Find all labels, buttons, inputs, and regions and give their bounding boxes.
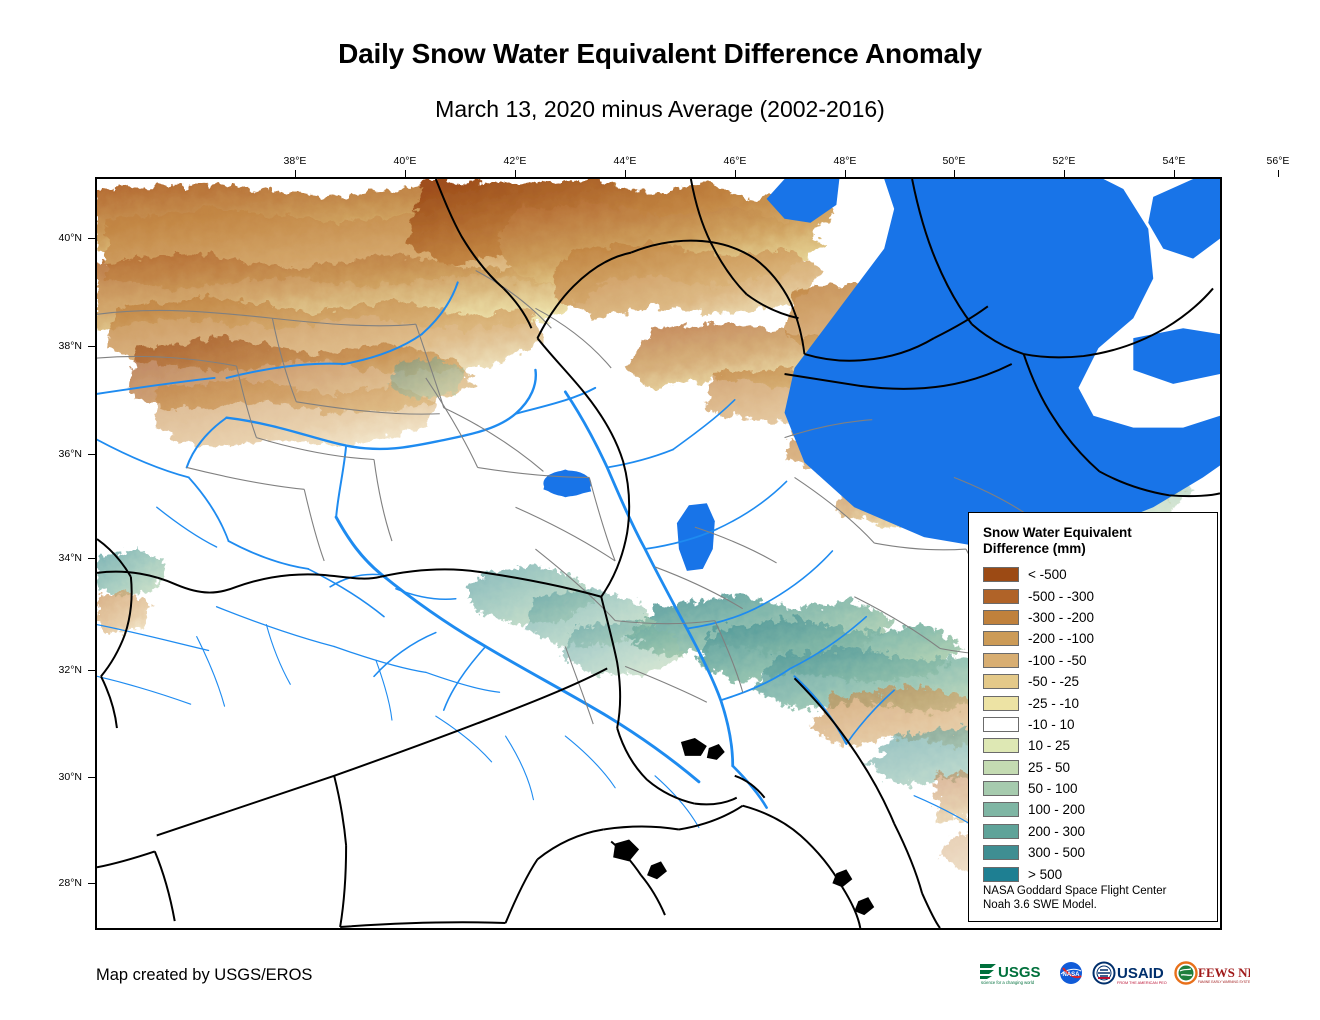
usgs-logo: USGS science for a changing world <box>978 958 1050 988</box>
longitude-tick <box>295 170 296 177</box>
longitude-tick <box>625 170 626 177</box>
legend-swatch <box>983 760 1019 775</box>
latitude-label: 28°N <box>22 877 82 889</box>
legend-row: -300 - -200 <box>983 607 1217 628</box>
map-legend: Snow Water Equivalent Difference (mm) < … <box>968 512 1218 922</box>
latitude-tick <box>88 346 95 347</box>
legend-swatch <box>983 696 1019 711</box>
legend-label: 200 - 300 <box>1028 824 1085 839</box>
legend-swatch <box>983 610 1019 625</box>
latitude-label: 40°N <box>22 232 82 244</box>
legend-label: -300 - -200 <box>1028 610 1094 625</box>
legend-swatch <box>983 674 1019 689</box>
legend-swatch <box>983 653 1019 668</box>
svg-text:USAID: USAID <box>1117 965 1164 982</box>
legend-label: -500 - -300 <box>1028 589 1094 604</box>
legend-title: Snow Water Equivalent Difference (mm) <box>983 525 1183 557</box>
legend-swatch <box>983 845 1019 860</box>
legend-label: 25 - 50 <box>1028 760 1070 775</box>
legend-row: < -500 <box>983 564 1217 585</box>
legend-source: NASA Goddard Space Flight Center Noah 3.… <box>983 885 1166 912</box>
legend-swatch <box>983 824 1019 839</box>
latitude-tick <box>88 238 95 239</box>
page-subtitle: March 13, 2020 minus Average (2002-2016) <box>0 96 1320 123</box>
svg-text:science for a changing world: science for a changing world <box>981 980 1035 985</box>
page-title: Daily Snow Water Equivalent Difference A… <box>0 38 1320 70</box>
legend-swatch <box>983 589 1019 604</box>
legend-label: < -500 <box>1028 567 1067 582</box>
legend-swatch <box>983 567 1019 582</box>
longitude-label: 42°E <box>485 155 545 167</box>
legend-label: 300 - 500 <box>1028 845 1085 860</box>
legend-label: -100 - -50 <box>1028 653 1087 668</box>
legend-source-line1: NASA Goddard Space Flight Center <box>983 885 1166 899</box>
legend-row: -100 - -50 <box>983 650 1217 671</box>
legend-swatch <box>983 781 1019 796</box>
legend-row: -500 - -300 <box>983 585 1217 606</box>
legend-label: -50 - -25 <box>1028 674 1079 689</box>
legend-title-line2: Difference (mm) <box>983 541 1086 556</box>
longitude-label: 46°E <box>705 155 765 167</box>
longitude-label: 44°E <box>595 155 655 167</box>
nasa-logo: NASA <box>1057 958 1085 988</box>
svg-text:FROM THE AMERICAN PEOPLE: FROM THE AMERICAN PEOPLE <box>1117 981 1167 985</box>
legend-label: -200 - -100 <box>1028 631 1094 646</box>
latitude-label: 36°N <box>22 448 82 460</box>
legend-row: 25 - 50 <box>983 757 1217 778</box>
logo-strip: USGS science for a changing world NASA U… <box>978 955 1223 991</box>
svg-text:NASA: NASA <box>1062 972 1080 978</box>
longitude-label: 52°E <box>1034 155 1094 167</box>
legend-row: 300 - 500 <box>983 842 1217 863</box>
longitude-label: 38°E <box>265 155 325 167</box>
longitude-label: 54°E <box>1144 155 1204 167</box>
legend-source-line2: Noah 3.6 SWE Model. <box>983 899 1166 913</box>
latitude-label: 30°N <box>22 771 82 783</box>
legend-row: -25 - -10 <box>983 692 1217 713</box>
legend-entries: < -500-500 - -300-300 - -200-200 - -100-… <box>983 564 1217 885</box>
legend-label: 50 - 100 <box>1028 781 1078 796</box>
latitude-label: 38°N <box>22 340 82 352</box>
legend-swatch <box>983 717 1019 732</box>
legend-label: -25 - -10 <box>1028 696 1079 711</box>
legend-swatch <box>983 802 1019 817</box>
longitude-tick <box>1278 170 1279 177</box>
latitude-tick <box>88 777 95 778</box>
longitude-label: 50°E <box>924 155 984 167</box>
latitude-tick <box>88 454 95 455</box>
longitude-label: 56°E <box>1248 155 1308 167</box>
legend-row: -10 - 10 <box>983 714 1217 735</box>
svg-text:FEWS NET: FEWS NET <box>1198 965 1250 980</box>
longitude-tick <box>1174 170 1175 177</box>
latitude-label: 34°N <box>22 552 82 564</box>
map-credit: Map created by USGS/EROS <box>96 966 312 985</box>
latitude-tick <box>88 558 95 559</box>
latitude-label: 32°N <box>22 664 82 676</box>
longitude-label: 48°E <box>815 155 875 167</box>
legend-title-line1: Snow Water Equivalent <box>983 525 1132 540</box>
legend-row: -200 - -100 <box>983 628 1217 649</box>
svg-text:FAMINE EARLY WARNING SYSTEMS N: FAMINE EARLY WARNING SYSTEMS NETWORK <box>1198 980 1250 984</box>
legend-swatch <box>983 738 1019 753</box>
legend-label: > 500 <box>1028 867 1062 882</box>
legend-row: > 500 <box>983 863 1217 884</box>
legend-row: 50 - 100 <box>983 778 1217 799</box>
legend-row: 200 - 300 <box>983 821 1217 842</box>
longitude-tick <box>515 170 516 177</box>
longitude-label: 40°E <box>375 155 435 167</box>
fewsnet-logo: FEWS NET FAMINE EARLY WARNING SYSTEMS NE… <box>1174 958 1250 988</box>
legend-label: 10 - 25 <box>1028 738 1070 753</box>
legend-swatch <box>983 867 1019 882</box>
latitude-tick <box>88 883 95 884</box>
usaid-logo: USAID FROM THE AMERICAN PEOPLE <box>1092 958 1167 988</box>
legend-row: -50 - -25 <box>983 671 1217 692</box>
latitude-tick <box>88 670 95 671</box>
legend-label: 100 - 200 <box>1028 802 1085 817</box>
legend-swatch <box>983 631 1019 646</box>
longitude-tick <box>735 170 736 177</box>
longitude-tick <box>954 170 955 177</box>
longitude-tick <box>405 170 406 177</box>
legend-label: -10 - 10 <box>1028 717 1075 732</box>
legend-row: 10 - 25 <box>983 735 1217 756</box>
longitude-tick <box>1064 170 1065 177</box>
legend-row: 100 - 200 <box>983 799 1217 820</box>
longitude-tick <box>845 170 846 177</box>
svg-text:USGS: USGS <box>998 964 1041 981</box>
